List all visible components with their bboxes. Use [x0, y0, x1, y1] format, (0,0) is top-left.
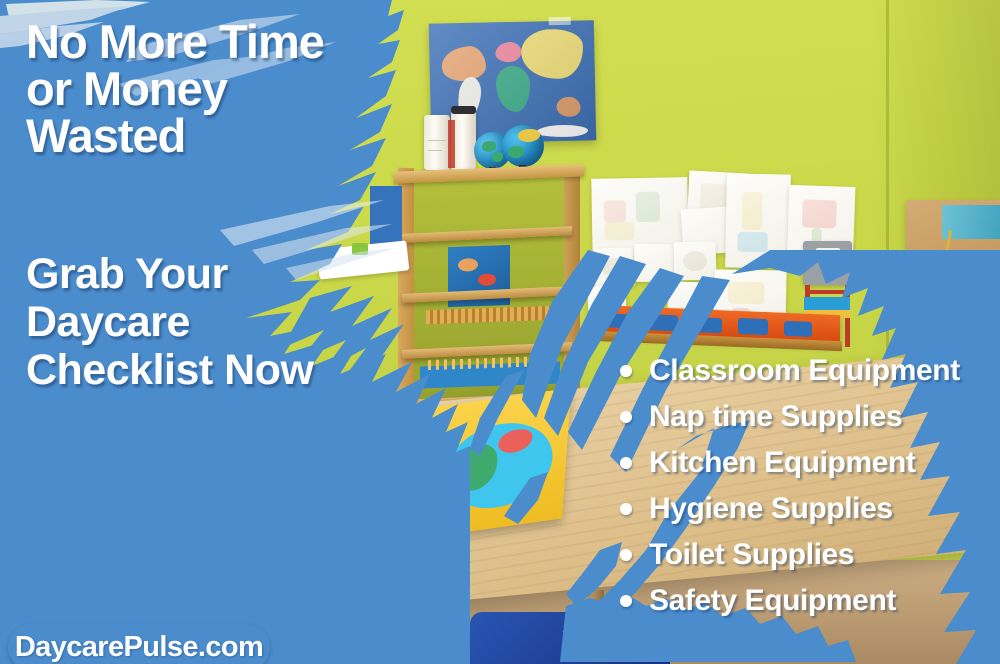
list-item-label: Classroom Equipment: [649, 354, 960, 388]
headline-line-3: Wasted: [26, 112, 426, 159]
subheadline: Grab Your Daycare Checklist Now: [26, 250, 426, 394]
subheadline-line-1: Grab Your: [26, 250, 426, 298]
drawing-mark: [604, 222, 634, 241]
poster-white-patch: [536, 124, 588, 137]
list-item-label: Kitchen Equipment: [649, 446, 916, 480]
globe-large: [502, 125, 544, 167]
site-logo-badge[interactable]: DaycarePulse.com: [8, 624, 270, 664]
headline: No More Time or Money Wasted: [26, 18, 426, 159]
subheadline-line-3: Checklist Now: [26, 346, 426, 394]
continent-europe: [495, 42, 521, 63]
list-item-label: Toilet Supplies: [649, 538, 854, 572]
checklist-bullet-list: Classroom Equipment Nap time Supplies Ki…: [620, 348, 1000, 624]
list-item-label: Hygiene Supplies: [649, 492, 893, 526]
list-item-label: Nap time Supplies: [649, 400, 902, 434]
drawing-mark: [636, 192, 661, 222]
continent-africa: [496, 66, 531, 113]
list-item-label: Safety Equipment: [649, 584, 896, 618]
globe-landmass: [508, 146, 524, 158]
drawing-mark: [604, 200, 626, 222]
bullet-dot-icon: [620, 457, 632, 469]
bullet-dot-icon: [620, 549, 632, 561]
list-item: Toilet Supplies: [620, 532, 1000, 578]
drawing-mark: [802, 199, 837, 228]
poster-tape: [549, 17, 571, 25]
list-item: Classroom Equipment: [620, 348, 1000, 394]
globe-landmass: [492, 152, 503, 162]
bullet-dot-icon: [620, 365, 632, 377]
bullet-dot-icon: [620, 595, 632, 607]
drawing-mark: [742, 192, 763, 230]
headline-line-2: or Money: [26, 65, 426, 112]
list-item: Hygiene Supplies: [620, 486, 1000, 532]
continent-asia: [520, 27, 585, 81]
promo-banner: No More Time or Money Wasted Grab Your D…: [0, 0, 1000, 664]
list-item: Safety Equipment: [620, 578, 1000, 624]
globe-landmass: [518, 129, 540, 142]
headline-line-1: No More Time: [26, 18, 426, 65]
site-logo-text: DaycarePulse.com: [15, 631, 263, 664]
globe-landmass: [482, 141, 496, 152]
continent-australia: [556, 97, 580, 117]
subheadline-line-2: Daycare: [26, 298, 426, 346]
list-item: Nap time Supplies: [620, 394, 1000, 440]
list-item: Kitchen Equipment: [620, 440, 1000, 486]
bullet-dot-icon: [620, 411, 632, 423]
bullet-dot-icon: [620, 503, 632, 515]
